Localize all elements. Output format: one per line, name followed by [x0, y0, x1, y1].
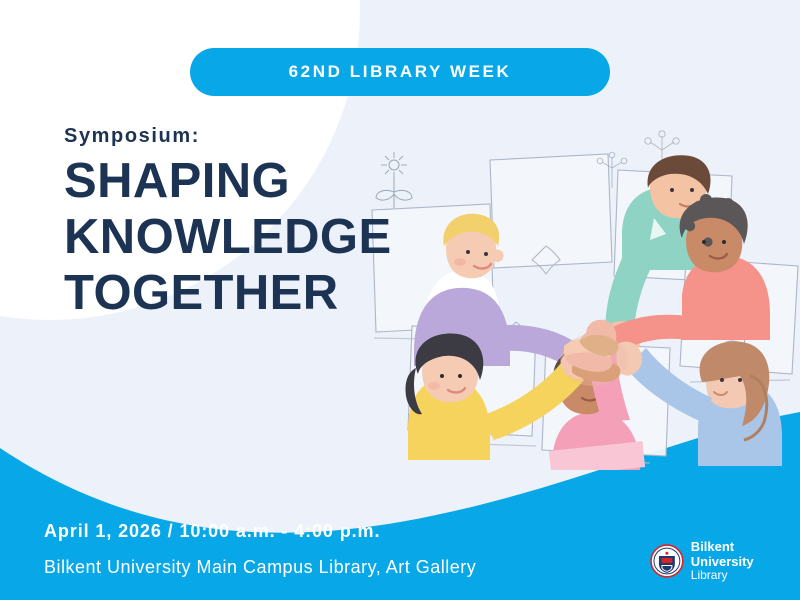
- event-datetime: April 1, 2026 / 10:00 a.m. - 4:00 p.m.: [44, 521, 380, 542]
- poster-canvas: 62ND LIBRARY WEEK Symposium: SHAPING KNO…: [0, 0, 800, 600]
- frame-top-left: [490, 154, 612, 268]
- title-line-2: KNOWLEDGE: [64, 210, 392, 266]
- logo-line-2: Library: [691, 569, 800, 582]
- hand-stack: [560, 334, 628, 386]
- title-line-1: SHAPING: [64, 154, 392, 210]
- library-week-badge: 62ND LIBRARY WEEK: [190, 48, 610, 96]
- illustration-people-joining-hands: [350, 130, 800, 470]
- badge-label: 62ND LIBRARY WEEK: [289, 62, 512, 82]
- headline-block: Symposium: SHAPING KNOWLEDGE TOGETHER: [64, 126, 392, 322]
- bilkent-library-logo: Bilkent University Library: [650, 540, 800, 583]
- event-venue: Bilkent University Main Campus Library, …: [44, 557, 476, 578]
- title-line-3: TOGETHER: [64, 266, 392, 322]
- logo-text-block: Bilkent University Library: [691, 540, 800, 583]
- logo-line-1: Bilkent University: [691, 540, 800, 569]
- bilkent-crest-icon: [650, 544, 684, 578]
- eyebrow-text: Symposium:: [64, 126, 392, 146]
